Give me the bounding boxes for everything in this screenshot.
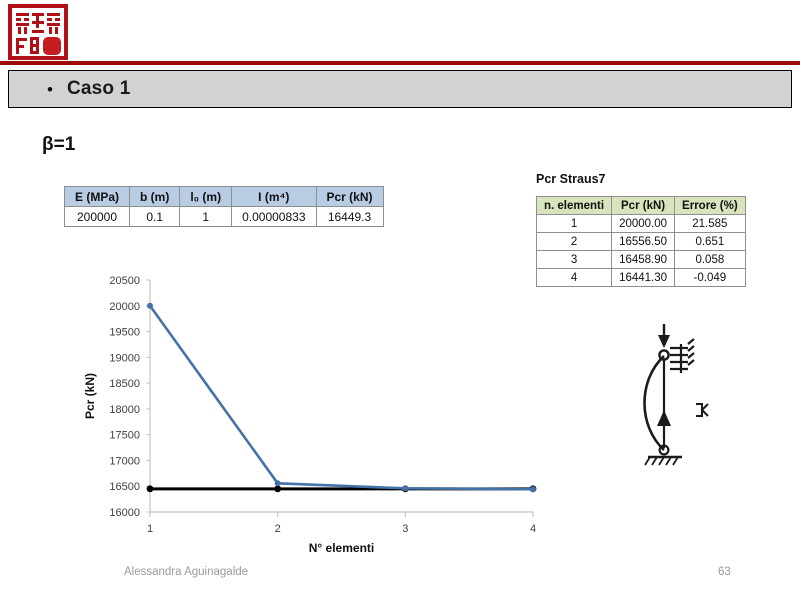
column-header-b: b (m) (130, 187, 180, 207)
y-tick-label: 20000 (109, 301, 140, 313)
buckled-column-diagram (636, 322, 756, 472)
x-tick-label: 3 (402, 523, 408, 535)
x-axis-title: N° elementi (309, 541, 374, 552)
y-tick-label: 18000 (109, 404, 140, 416)
cell-e: 200000 (65, 207, 130, 227)
header-divider-rule (0, 61, 800, 65)
red-seal-logo (8, 4, 70, 62)
bullet-icon: • (47, 81, 53, 98)
column-header-n-elementi: n. elementi (537, 197, 612, 215)
cell-i: 0.00000833 (232, 207, 316, 227)
cell-n-elementi: 2 (537, 233, 612, 251)
column-header-i: I (m⁴) (232, 187, 316, 207)
y-tick-label: 18500 (109, 378, 140, 390)
column-header-e: E (MPa) (65, 187, 130, 207)
cell-pcr: 16441.30 (612, 269, 675, 287)
table-header-row: n. elementi Pcr (kN) Errore (%) (537, 197, 746, 215)
series-line (150, 306, 533, 489)
series-data-point (147, 303, 153, 309)
x-tick-label: 2 (275, 523, 281, 535)
column-header-pcr: Pcr (kN) (612, 197, 675, 215)
straus7-results-table: n. elementi Pcr (kN) Errore (%) 1 20000.… (536, 196, 746, 287)
series-data-point (530, 486, 536, 492)
slide-title-band: • Caso 1 (8, 70, 792, 108)
y-tick-label: 16500 (109, 481, 140, 493)
table-row: 2 16556.50 0.651 (537, 233, 746, 251)
beta-parameter-label: β=1 (42, 134, 75, 156)
cell-pcr: 16449.3 (316, 207, 383, 227)
y-tick-label: 19500 (109, 327, 140, 339)
column-header-pcr: Pcr (kN) (316, 187, 383, 207)
table-row: 1 20000.00 21.585 (537, 215, 746, 233)
cell-errore: 0.058 (675, 251, 746, 269)
cell-pcr: 16556.50 (612, 233, 675, 251)
y-tick-label: 17500 (109, 430, 140, 442)
table-row: 4 16441.30 -0.049 (537, 269, 746, 287)
page-title: Caso 1 (67, 78, 131, 100)
y-tick-label: 16000 (109, 507, 140, 519)
y-tick-label: 17000 (109, 455, 140, 467)
footer-page-number: 63 (718, 566, 731, 578)
y-tick-label: 19000 (109, 352, 140, 364)
series-data-point (274, 485, 281, 492)
cell-pcr: 20000.00 (612, 215, 675, 233)
column-header-l0: l₀ (m) (180, 187, 232, 207)
table-header-row: E (MPa) b (m) l₀ (m) I (m⁴) Pcr (kN) (65, 187, 384, 207)
table-row: 3 16458.90 0.058 (537, 251, 746, 269)
cell-b: 0.1 (130, 207, 180, 227)
cell-errore: 0.651 (675, 233, 746, 251)
cell-pcr: 16458.90 (612, 251, 675, 269)
x-tick-label: 4 (530, 523, 536, 535)
straus-table-caption: Pcr Straus7 (536, 172, 605, 186)
cell-l0: 1 (180, 207, 232, 227)
series-data-point (275, 480, 281, 486)
series-data-point (402, 485, 408, 491)
x-tick-label: 1 (147, 523, 153, 535)
parameters-table: E (MPa) b (m) l₀ (m) I (m⁴) Pcr (kN) 200… (64, 186, 384, 227)
cell-errore: -0.049 (675, 269, 746, 287)
convergence-line-chart: Pcr (kN) 1600016500170001750018000185001… (78, 262, 548, 552)
y-tick-label: 20500 (109, 275, 140, 287)
column-header-errore: Errore (%) (675, 197, 746, 215)
footer-author: Alessandra Aguinagalde (124, 566, 248, 578)
y-axis-title: Pcr (kN) (83, 373, 97, 419)
series-data-point (147, 485, 154, 492)
cell-errore: 21.585 (675, 215, 746, 233)
cell-n-elementi: 1 (537, 215, 612, 233)
table-row: 200000 0.1 1 0.00000833 16449.3 (65, 207, 384, 227)
